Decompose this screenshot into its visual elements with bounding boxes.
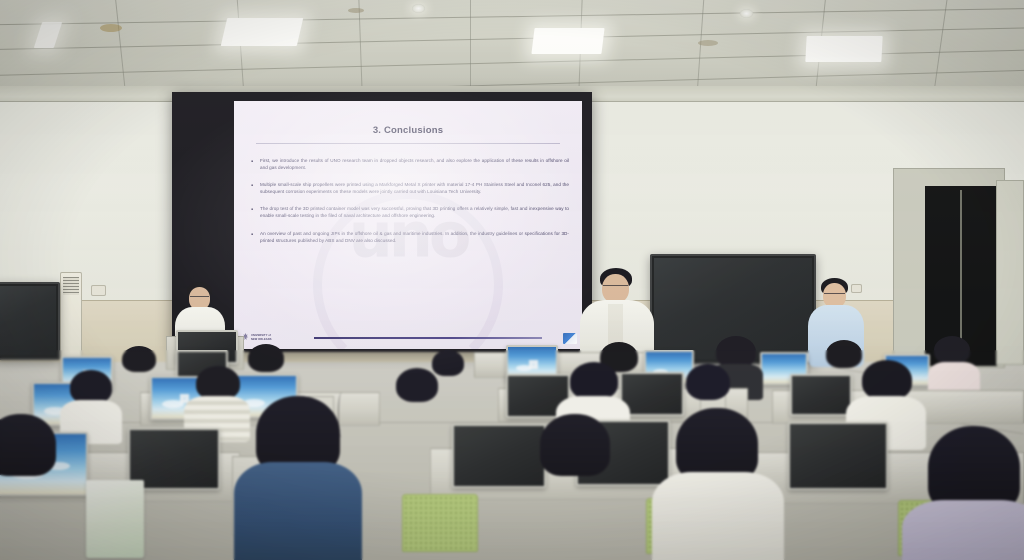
- presentation-slide: uno 3. Conclusions ▪ First, we introduce…: [234, 101, 582, 349]
- ceiling: [0, 0, 1024, 92]
- slide-accent-bar: [314, 337, 542, 339]
- student: [686, 364, 730, 400]
- ceiling-panel-light: [805, 36, 882, 62]
- uno-logo: UNIVERSITY of NEW ORLEANS: [242, 333, 272, 342]
- ceiling-vent: [348, 8, 364, 13]
- ceiling-vent: [100, 24, 122, 32]
- tote-bag: [86, 480, 144, 558]
- slide-bullet-list: ▪ First, we introduce the results of UNO…: [251, 157, 569, 254]
- chair[interactable]: [402, 494, 478, 552]
- monitor[interactable]: [788, 422, 888, 490]
- door-side-panel: [996, 180, 1024, 365]
- slide-bullet-text: First, we introduce the results of UNO r…: [260, 157, 569, 171]
- student: [570, 362, 618, 400]
- slide-title-rule: [256, 143, 560, 144]
- ceiling-spot-light: [740, 9, 753, 18]
- air-conditioner-unit: [60, 272, 82, 358]
- door-mullion: [960, 190, 962, 360]
- bullet-marker-icon: ▪: [251, 157, 260, 171]
- projection-screen[interactable]: uno 3. Conclusions ▪ First, we introduce…: [172, 92, 592, 352]
- student: [70, 370, 112, 404]
- ceiling-vent: [698, 40, 718, 46]
- ceiling-panel-light: [531, 28, 604, 54]
- wall-speaker: [91, 285, 106, 296]
- glasses-icon: [190, 296, 209, 299]
- slide-bullet-text: Multiple small-scale ship propellers wer…: [260, 181, 569, 195]
- partner-logo-icon: [563, 333, 577, 344]
- student: [256, 396, 340, 474]
- ceiling-panel-light: [221, 18, 303, 46]
- slide-bullet-item: ▪ Multiple small-scale ship propellers w…: [251, 181, 569, 195]
- ceiling-panel-light: [34, 22, 62, 48]
- student: [862, 360, 912, 400]
- uno-logo-line2: NEW ORLEANS: [251, 338, 272, 341]
- ceiling-spot-light: [412, 4, 425, 13]
- student: [540, 414, 610, 476]
- glasses-icon: [603, 285, 628, 288]
- slide-bullet-item: ▪ An overview of past and ongoing JIPs i…: [251, 230, 569, 244]
- student: [248, 344, 284, 372]
- student: [676, 408, 758, 482]
- slide-bullet-item: ▪ First, we introduce the results of UNO…: [251, 157, 569, 171]
- student: [934, 336, 970, 364]
- bullet-marker-icon: ▪: [251, 230, 260, 244]
- left-wall-monitor[interactable]: [0, 282, 60, 360]
- student: [396, 368, 438, 402]
- student: [928, 426, 1020, 512]
- classroom-photo: uno 3. Conclusions ▪ First, we introduce…: [0, 0, 1024, 560]
- slide-bullet-item: ▪ The drop test of the 3D printed contai…: [251, 205, 569, 219]
- bullet-marker-icon: ▪: [251, 205, 260, 219]
- uno-logo-line1: UNIVERSITY of: [251, 334, 272, 337]
- student: [0, 414, 56, 476]
- student: [196, 366, 240, 400]
- slide-bullet-text: The drop test of the 3D printed containe…: [260, 205, 569, 219]
- head: [602, 274, 629, 303]
- monitor[interactable]: [452, 424, 546, 488]
- slide-title: 3. Conclusions: [234, 125, 582, 136]
- student: [826, 340, 862, 368]
- student: [122, 346, 156, 372]
- slide-bullet-text: An overview of past and ongoing JIPs in …: [260, 230, 569, 244]
- bullet-marker-icon: ▪: [251, 181, 260, 195]
- monitor[interactable]: [790, 374, 852, 416]
- glasses-icon: [824, 293, 845, 296]
